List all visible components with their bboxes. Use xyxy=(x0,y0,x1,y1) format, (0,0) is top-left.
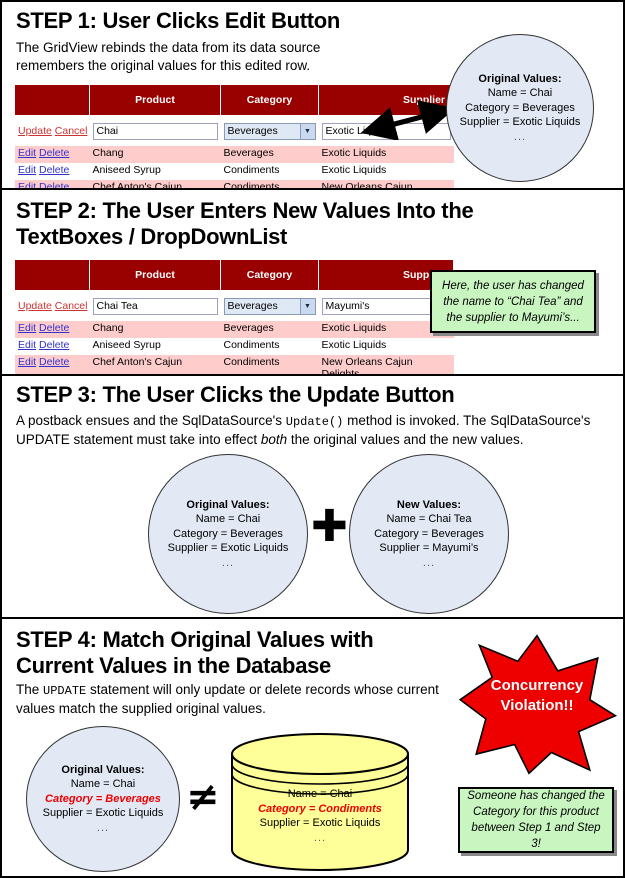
row-product: Aniseed Syrup xyxy=(90,338,221,355)
cancel-link[interactable]: Cancel xyxy=(55,125,88,137)
edit-link[interactable]: Edit xyxy=(18,164,36,176)
edit-row-commands: Update Cancel xyxy=(15,291,90,322)
row-product: Chang xyxy=(90,321,221,338)
callout-line-3: Supplier = Mayumi’s xyxy=(374,541,484,556)
step-3-body-part-3: UPDATE statement must take into effect xyxy=(16,432,261,447)
product-textbox[interactable]: Chai Tea xyxy=(93,298,218,315)
callout-ellipsis: ... xyxy=(168,556,289,571)
edit-row-category-cell: Beverages ▼ xyxy=(221,116,319,147)
row-supplier: Exotic Liquids xyxy=(319,163,454,180)
callout-line-1: Name = Chai Tea xyxy=(374,512,484,527)
delete-link[interactable]: Delete xyxy=(39,147,69,159)
callout-line-2: Category = Beverages xyxy=(374,527,484,542)
callout-title: Original Values: xyxy=(460,72,581,87)
db-ellipsis: ... xyxy=(230,831,410,846)
cancel-link[interactable]: Cancel xyxy=(55,300,88,312)
step-4-panel: STEP 4: Match Original Values with Curre… xyxy=(2,617,623,878)
row-commands: Edit Delete xyxy=(15,180,90,188)
delete-link[interactable]: Delete xyxy=(39,322,69,334)
table-header-row: Product Category Supplier xyxy=(15,260,454,291)
column-header-category[interactable]: Category xyxy=(221,85,319,116)
step-3-body-emphasis: both xyxy=(261,432,287,447)
row-category: Beverages xyxy=(221,321,319,338)
update-keyword-code: UPDATE xyxy=(43,684,86,698)
row-commands: Edit Delete xyxy=(15,321,90,338)
step-1-panel: STEP 1: User Clicks Edit Button The Grid… xyxy=(2,2,623,188)
row-commands: Edit Delete xyxy=(15,146,90,163)
edit-link[interactable]: Edit xyxy=(18,147,36,159)
callout-ellipsis: ... xyxy=(43,821,164,836)
table-row: Edit Delete Aniseed Syrup Condiments Exo… xyxy=(15,338,454,355)
step-2-note-text: Here, the user has changed the name to “… xyxy=(438,278,588,326)
table-row: Edit Delete Chef Anton's Cajun Condiment… xyxy=(15,355,454,374)
step-3-body-part-1: A postback ensues and the SqlDataSource'… xyxy=(16,413,286,428)
step-2-panel: STEP 2: The User Enters New Values Into … xyxy=(2,188,623,374)
row-product: Aniseed Syrup xyxy=(90,163,221,180)
step-3-panel: STEP 3: The User Clicks the Update Butto… xyxy=(2,374,623,617)
table-row: Edit Delete Chang Beverages Exotic Liqui… xyxy=(15,146,454,163)
db-line-2-highlight: Category = Condiments xyxy=(230,802,410,817)
step-4-body: The UPDATE statement will only update or… xyxy=(16,681,446,718)
column-header-commands[interactable] xyxy=(15,85,90,116)
database-values-text: Name = Chai Category = Condiments Suppli… xyxy=(230,787,410,845)
step-3-heading: STEP 3: The User Clicks the Update Butto… xyxy=(16,382,486,408)
row-category: Condiments xyxy=(221,180,319,188)
delete-link[interactable]: Delete xyxy=(39,356,69,368)
row-product: Chef Anton's Cajun xyxy=(90,355,221,374)
row-supplier: New Orleans Cajun Delights xyxy=(319,180,454,188)
edit-row-category-cell: Beverages ▼ xyxy=(221,291,319,322)
callout-ellipsis: ... xyxy=(374,556,484,571)
edit-row-product-cell: Chai Tea xyxy=(90,291,221,322)
chevron-down-icon: ▼ xyxy=(300,299,315,314)
category-dropdownlist[interactable]: Beverages ▼ xyxy=(224,298,316,315)
callout-line-1: Name = Chai xyxy=(43,777,164,792)
db-line-3: Supplier = Exotic Liquids xyxy=(230,816,410,831)
step-1-heading: STEP 1: User Clicks Edit Button xyxy=(16,8,416,34)
step-3-original-values-callout: Original Values: Name = Chai Category = … xyxy=(148,454,308,614)
callout-line-3: Supplier = Exotic Liquids xyxy=(168,541,289,556)
step-3-new-values-text: New Values: Name = Chai Tea Category = B… xyxy=(374,498,484,571)
edit-link[interactable]: Edit xyxy=(18,339,36,351)
row-supplier: New Orleans Cajun Delights xyxy=(319,355,454,374)
step-3-body: A postback ensues and the SqlDataSource'… xyxy=(16,412,616,449)
row-commands: Edit Delete xyxy=(15,338,90,355)
row-commands: Edit Delete xyxy=(15,163,90,180)
step-1-body: The GridView rebinds the data from its d… xyxy=(16,39,376,75)
row-commands: Edit Delete xyxy=(15,355,90,374)
product-textbox[interactable]: Chai xyxy=(93,123,218,140)
callout-title: Original Values: xyxy=(43,763,164,778)
edit-row-commands: Update Cancel xyxy=(15,116,90,147)
callout-line-2: Category = Beverages xyxy=(460,101,581,116)
step-3-body-part-4: the original values and the new values. xyxy=(287,432,523,447)
not-equal-icon: ≠ xyxy=(186,777,220,817)
table-row: Edit Delete Aniseed Syrup Condiments Exo… xyxy=(15,163,454,180)
concurrency-violation-star: Concurrency Violation!! xyxy=(457,632,617,777)
column-header-category[interactable]: Category xyxy=(221,260,319,291)
step-4-body-part-1: The xyxy=(16,682,43,697)
row-product: Chef Anton's Cajun xyxy=(90,180,221,188)
step-4-note-callout: Someone has changed the Category for thi… xyxy=(458,787,614,853)
plus-icon: ✚ xyxy=(311,505,348,549)
original-values-callout: Original Values: Name = Chai Category = … xyxy=(446,34,594,182)
category-dropdownlist[interactable]: Beverages ▼ xyxy=(224,123,316,140)
star-label: Concurrency Violation!! xyxy=(457,676,617,716)
edit-link[interactable]: Edit xyxy=(18,356,36,368)
callout-ellipsis: ... xyxy=(460,130,581,145)
column-header-product[interactable]: Product xyxy=(90,260,221,291)
row-supplier: Exotic Liquids xyxy=(319,338,454,355)
table-row: Edit Delete Chef Anton's Cajun Condiment… xyxy=(15,180,454,188)
column-header-commands[interactable] xyxy=(15,260,90,291)
category-dropdownlist-value: Beverages xyxy=(228,299,278,314)
step-2-heading: STEP 2: The User Enters New Values Into … xyxy=(16,198,486,250)
edit-row-product-cell: Chai xyxy=(90,116,221,147)
gridview-step-2: Product Category Supplier Update Cancel … xyxy=(15,259,454,374)
update-link[interactable]: Update xyxy=(18,125,52,137)
delete-link[interactable]: Delete xyxy=(39,181,69,188)
step-4-original-values-text: Original Values: Name = Chai Category = … xyxy=(43,763,164,836)
delete-link[interactable]: Delete xyxy=(39,164,69,176)
table-row: Edit Delete Chang Beverages Exotic Liqui… xyxy=(15,321,454,338)
diagram-page: STEP 1: User Clicks Edit Button The Grid… xyxy=(0,0,625,878)
database-cylinder: Name = Chai Category = Condiments Suppli… xyxy=(230,732,410,872)
step-4-body-part-3: values match the supplied original value… xyxy=(16,701,266,716)
update-method-code: Update() xyxy=(286,415,344,429)
chevron-down-icon: ▼ xyxy=(300,124,315,139)
step-3-body-part-2: method is invoked. The SqlDataSource's xyxy=(343,413,590,428)
db-line-1: Name = Chai xyxy=(230,787,410,802)
edit-link[interactable]: Edit xyxy=(18,181,36,188)
row-product: Chang xyxy=(90,146,221,163)
step-2-note-callout: Here, the user has changed the name to “… xyxy=(430,270,596,333)
step-4-body-part-2: statement will only update or delete rec… xyxy=(86,682,439,697)
callout-line-1: Name = Chai xyxy=(168,512,289,527)
callout-title: Original Values: xyxy=(168,498,289,513)
category-dropdownlist-value: Beverages xyxy=(228,124,278,139)
callout-line-2-highlight: Category = Beverages xyxy=(43,792,164,807)
step-4-heading: STEP 4: Match Original Values with Curre… xyxy=(16,627,446,679)
row-category: Condiments xyxy=(221,163,319,180)
edit-link[interactable]: Edit xyxy=(18,322,36,334)
step-4-original-values-callout: Original Values: Name = Chai Category = … xyxy=(26,726,180,872)
callout-line-2: Category = Beverages xyxy=(168,527,289,542)
callout-line-3: Supplier = Exotic Liquids xyxy=(43,806,164,821)
callout-line-3: Supplier = Exotic Liquids xyxy=(460,115,581,130)
step-3-original-values-text: Original Values: Name = Chai Category = … xyxy=(168,498,289,571)
row-category: Beverages xyxy=(221,146,319,163)
callout-title: New Values: xyxy=(374,498,484,513)
step-3-new-values-callout: New Values: Name = Chai Tea Category = B… xyxy=(349,454,509,614)
original-values-callout-text: Original Values: Name = Chai Category = … xyxy=(460,72,581,145)
row-category: Condiments xyxy=(221,355,319,374)
delete-link[interactable]: Delete xyxy=(39,339,69,351)
row-category: Condiments xyxy=(221,338,319,355)
column-header-product[interactable]: Product xyxy=(90,85,221,116)
callout-line-1: Name = Chai xyxy=(460,86,581,101)
update-link[interactable]: Update xyxy=(18,300,52,312)
gridview-edit-row: Update Cancel Chai Tea Beverages ▼ Mayum… xyxy=(15,291,454,322)
step-4-note-text: Someone has changed the Category for thi… xyxy=(466,788,606,852)
row-supplier: Exotic Liquids xyxy=(319,146,454,163)
